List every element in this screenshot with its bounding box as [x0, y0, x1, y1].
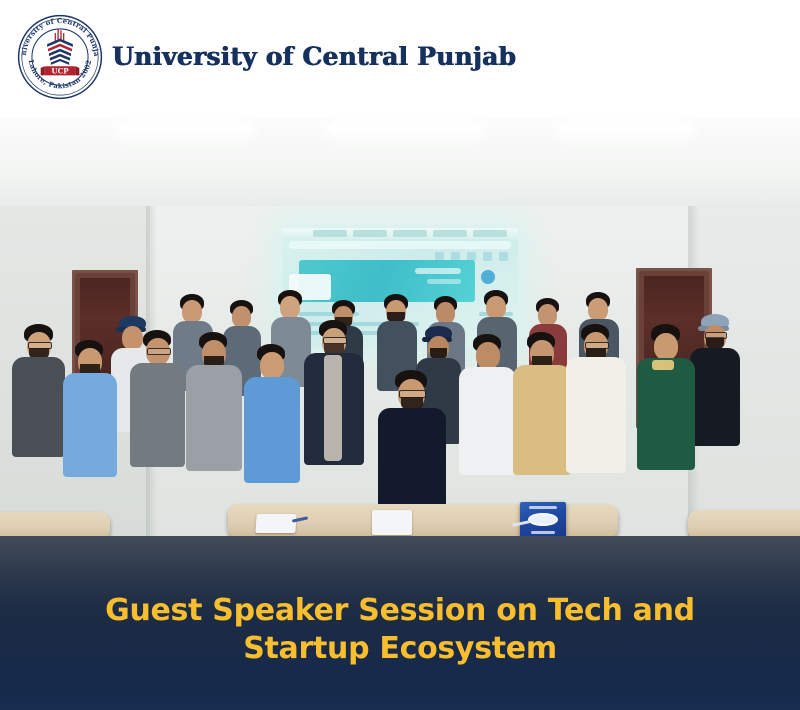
event-title: Guest Speaker Session on Tech and Startu…	[60, 592, 740, 669]
brand-wordmark-text: University of Central Punjab	[112, 42, 516, 71]
brand-wordmark[interactable]: University of Central Punjab	[112, 36, 516, 76]
ceiling-light	[330, 124, 480, 133]
ceiling-light	[120, 124, 250, 133]
ucp-seal-logo[interactable]: University of Central Punjab Lahore, Pak…	[14, 11, 106, 103]
event-card: University of Central Punjab Lahore, Pak…	[0, 0, 800, 710]
caption-block: Guest Speaker Session on Tech and Startu…	[0, 592, 800, 669]
site-header: University of Central Punjab Lahore, Pak…	[0, 0, 800, 118]
svg-text:UCP: UCP	[52, 66, 70, 75]
ceiling-light	[560, 124, 690, 133]
